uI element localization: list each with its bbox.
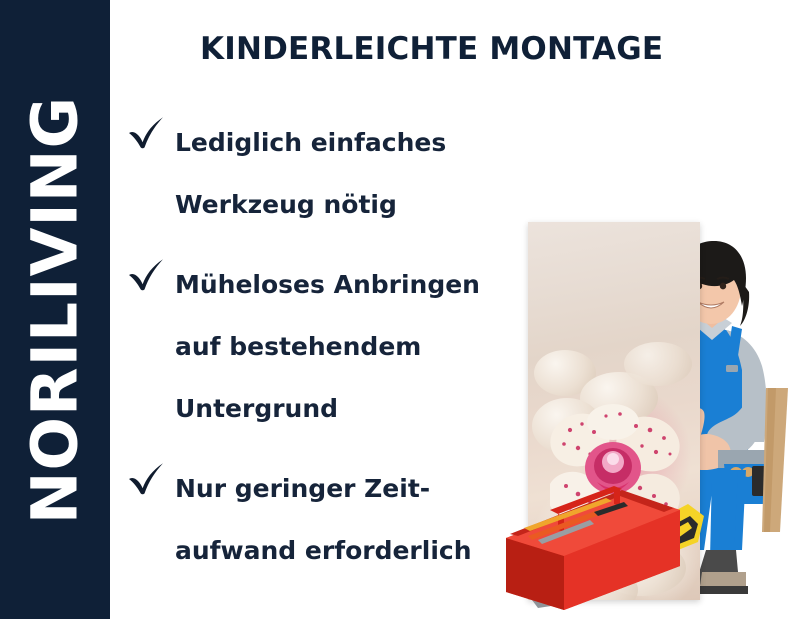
check-icon <box>126 256 168 292</box>
product-photo <box>480 120 799 619</box>
list-item: Nur geringer Zeit- aufwand erforderlich <box>126 458 506 582</box>
list-item-line: aufwand erforderlich <box>175 520 506 582</box>
list-item-line: Lediglich einfaches <box>175 112 506 174</box>
list-item-text: Müheloses Anbringen auf bestehendem Unte… <box>175 254 506 440</box>
list-item-line: Untergrund <box>175 378 506 440</box>
check-icon <box>126 460 168 496</box>
list-item-text: Lediglich einfaches Werkzeug nötig <box>175 112 506 236</box>
promo-banner: NORILIVING KINDERLEICHTE MONTAGE Ledigli… <box>0 0 799 619</box>
feature-list: Lediglich einfaches Werkzeug nötig Mühel… <box>126 112 506 600</box>
list-item: Lediglich einfaches Werkzeug nötig <box>126 112 506 236</box>
tools-foreground <box>498 458 708 618</box>
list-item-line: Müheloses Anbringen <box>175 254 506 316</box>
list-item-line: Nur geringer Zeit- <box>175 458 506 520</box>
list-item: Müheloses Anbringen auf bestehendem Unte… <box>126 254 506 440</box>
brand-sidebar: NORILIVING <box>0 0 110 619</box>
page-title: KINDERLEICHTE MONTAGE <box>200 31 663 67</box>
list-item-text: Nur geringer Zeit- aufwand erforderlich <box>175 458 506 582</box>
brand-name-label: NORILIVING <box>24 95 87 523</box>
list-item-line: auf bestehendem <box>175 316 506 378</box>
check-icon <box>126 114 168 150</box>
list-item-line: Werkzeug nötig <box>175 174 506 236</box>
